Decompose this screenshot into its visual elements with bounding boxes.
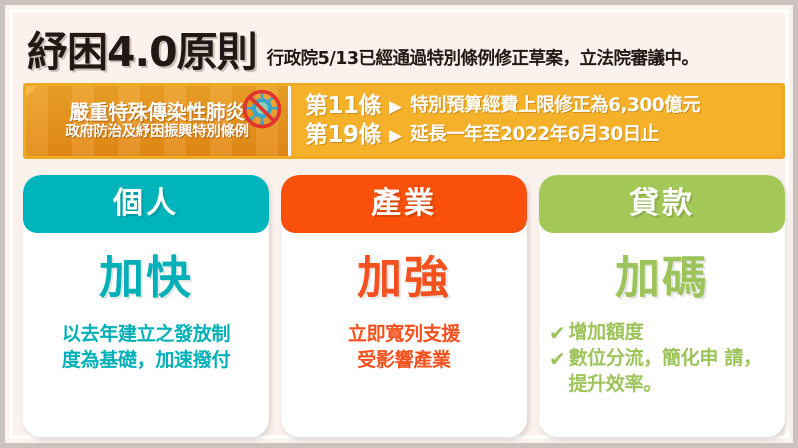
law-article-number: 第11條 [305,94,381,119]
list-item-label: 數位分流，簡化申 請，提升效率。 [568,346,779,397]
card-individual-keyword: 加快 [99,255,193,300]
card-industry-body: 立即寬列支援 受影響產業 [338,322,470,373]
arrow-right-icon: ▶ [389,98,402,115]
page-title: 紓困4.0原則 [27,32,257,73]
card-individual-body: 以去年建立之發放制 度為基礎，加速撥付 [52,322,240,373]
check-icon: ✔ [549,346,565,372]
card-loan-list: ✔ 增加額度 ✔ 數位分流，簡化申 請，提升效率。 [539,320,785,397]
arrow-right-icon: ▶ [389,127,402,144]
law-row: 第19條 ▶ 延長一年至2022年6月30日止 [305,123,782,148]
law-row: 第11條 ▶ 特別預算經費上限修正為6,300億元 [305,94,782,119]
card-individual: 個人 加快 以去年建立之發放制 度為基礎，加速撥付 [23,175,269,437]
card-loan-header: 貸款 [539,175,785,233]
law-rows: 第11條 ▶ 特別預算經費上限修正為6,300億元 第19條 ▶ 延長一年至20… [291,86,782,156]
check-icon: ✔ [549,320,565,346]
card-individual-title: 個人 [113,189,179,219]
card-industry-header: 產業 [281,175,527,233]
no-virus-icon [240,88,284,132]
act-name: 嚴重特殊傳染性肺炎 [69,102,245,123]
law-article-number: 第19條 [305,123,381,148]
list-item: ✔ 數位分流，簡化申 請，提升效率。 [549,346,779,397]
page-subtitle: 行政院5/13已經通過特別條例修正草案，立法院審議中。 [267,51,699,74]
act-label: 嚴重特殊傳染性肺炎 政府防治及紓困振興特別條例 [26,86,288,156]
poster-header: 紓困4.0原則 行政院5/13已經通過特別條例修正草案，立法院審議中。 [27,15,779,73]
card-loan-title: 貸款 [629,189,695,219]
list-item: ✔ 增加額度 [549,320,779,346]
card-industry-title: 產業 [371,189,437,219]
card-loan-keyword: 加碼 [615,255,709,300]
card-loan: 貸款 加碼 ✔ 增加額度 ✔ 數位分流，簡化申 請，提升效率。 [539,175,785,437]
law-article-text: 特別預算經費上限修正為6,300億元 [410,96,700,116]
infographic-poster: 紓困4.0原則 行政院5/13已經通過特別條例修正草案，立法院審議中。 嚴重特殊… [0,0,798,448]
law-band: 嚴重特殊傳染性肺炎 政府防治及紓困振興特別條例 [23,83,785,159]
card-industry-keyword: 加強 [357,255,451,300]
act-subtitle: 政府防治及紓困振興特別條例 [65,125,248,140]
principle-cards: 個人 加快 以去年建立之發放制 度為基礎，加速撥付 產業 加強 立即寬列支援 受… [23,175,785,437]
card-industry: 產業 加強 立即寬列支援 受影響產業 [281,175,527,437]
list-item-label: 增加額度 [568,320,779,346]
law-article-text: 延長一年至2022年6月30日止 [410,125,659,145]
card-individual-header: 個人 [23,175,269,233]
